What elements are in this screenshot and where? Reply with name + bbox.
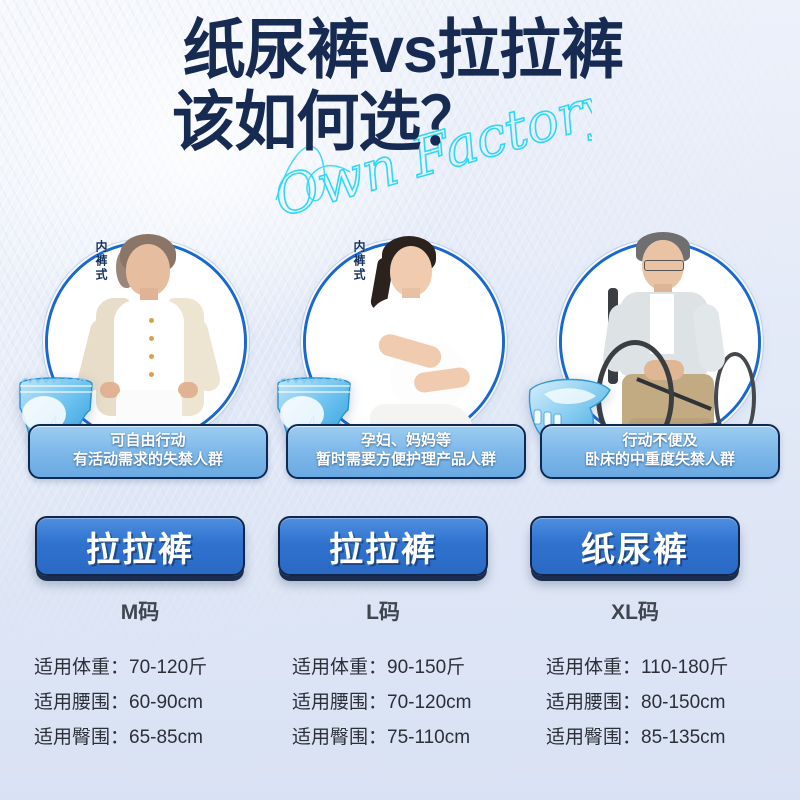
- caption-line-2: 暂时需要方便护理产品人群: [294, 450, 518, 470]
- own-factory-signature: Own Factory: [262, 96, 592, 216]
- size-label: L码: [278, 596, 488, 626]
- product-badge-row: 拉拉裤 拉拉裤 纸尿裤 M码 L码 XL码: [0, 516, 800, 596]
- caption-line-1: 行动不便及: [548, 431, 772, 450]
- caption-line-2: 卧床的中重度失禁人群: [548, 450, 772, 470]
- caption-line-2: 有活动需求的失禁人群: [36, 450, 260, 470]
- spec-waist: 适用腰围：70-120cm: [278, 685, 528, 720]
- product-style-label: 内裤式: [92, 240, 110, 282]
- product-style-label: 内裤式: [350, 240, 368, 282]
- spec-column-xl: 适用体重：110-180斤 适用腰围：80-150cm 适用臀围：85-135c…: [532, 650, 782, 755]
- spec-weight: 适用体重：70-120斤: [24, 650, 274, 685]
- size-label: M码: [35, 596, 245, 626]
- product-badge[interactable]: 纸尿裤: [530, 516, 740, 576]
- spec-hip: 适用臀围：85-135cm: [532, 720, 782, 755]
- spec-column-l: 适用体重：90-150斤 适用腰围：70-120cm 适用臀围：75-110cm: [278, 650, 528, 755]
- spec-hip: 适用臀围：75-110cm: [278, 720, 528, 755]
- badge-wrap-2: 拉拉裤: [278, 516, 488, 576]
- badge-wrap-1: 拉拉裤: [35, 516, 245, 576]
- size-label: XL码: [530, 596, 740, 626]
- badge-wrap-3: 纸尿裤: [530, 516, 740, 576]
- panel-pull-up-active: 内裤式 可自由行动 有活动需求的失禁人群: [6, 228, 272, 493]
- panel-caption: 行动不便及 卧床的中重度失禁人群: [540, 424, 780, 479]
- headline-line-2: 该如何选？: [12, 86, 788, 158]
- panel-pull-up-pregnancy: 内裤式 孕妇、妈妈等 暂时需要方便护理产品人群: [264, 228, 530, 493]
- panel-tape-diaper-bedridden: 行动不便及 卧床的中重度失禁人群: [520, 228, 786, 493]
- page-title: 纸尿裤vs拉拉裤 该如何选？: [0, 14, 800, 158]
- signature-text: Own Factory: [267, 96, 592, 216]
- product-badge[interactable]: 拉拉裤: [35, 516, 245, 576]
- caption-line-1: 孕妇、妈妈等: [294, 431, 518, 450]
- audience-panels: 内裤式 可自由行动 有活动需求的失禁人群: [0, 228, 800, 493]
- panel-caption: 可自由行动 有活动需求的失禁人群: [28, 424, 268, 479]
- spec-weight: 适用体重：110-180斤: [532, 650, 782, 685]
- product-badge-label: 拉拉裤: [329, 522, 437, 571]
- spec-hip: 适用臀围：65-85cm: [24, 720, 274, 755]
- product-badge-label: 拉拉裤: [86, 522, 194, 571]
- product-badge[interactable]: 拉拉裤: [278, 516, 488, 576]
- spec-waist: 适用腰围：80-150cm: [532, 685, 782, 720]
- infographic-page: 纸尿裤vs拉拉裤 该如何选？ Own Factory: [0, 0, 800, 800]
- spec-waist: 适用腰围：60-90cm: [24, 685, 274, 720]
- headline-line-1: 纸尿裤vs拉拉裤: [12, 14, 788, 86]
- spec-weight: 适用体重：90-150斤: [278, 650, 528, 685]
- product-badge-label: 纸尿裤: [581, 522, 689, 571]
- spec-column-m: 适用体重：70-120斤 适用腰围：60-90cm 适用臀围：65-85cm: [24, 650, 274, 755]
- caption-line-1: 可自由行动: [36, 431, 260, 450]
- panel-caption: 孕妇、妈妈等 暂时需要方便护理产品人群: [286, 424, 526, 479]
